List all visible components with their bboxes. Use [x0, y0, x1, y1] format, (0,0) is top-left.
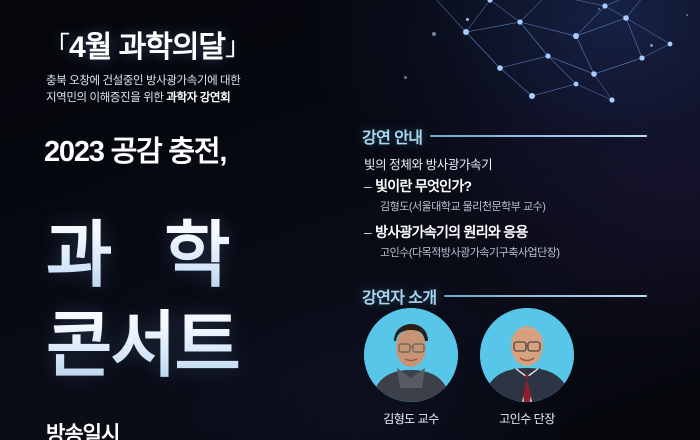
avatar: [480, 308, 574, 402]
poster-canvas: 「4월 과학의달」 충북 오창에 건설중인 방사광가속기에 대한 지역민의 이해…: [0, 0, 700, 440]
subtitle-line-2-plain: 지역민의 이해증진을 위한: [46, 92, 166, 104]
bullet-dash-icon: –: [364, 178, 371, 194]
speaker-card: 고인수 단장: [480, 308, 574, 427]
speaker-portrait-ko: [480, 308, 574, 402]
subtitle-line-1: 충북 오창에 건설중인 방사광가속기에 대한: [46, 75, 240, 87]
speaker-name: 고인수 단장: [480, 410, 574, 427]
poster-title-word-3: 콘서트: [46, 286, 239, 391]
lecture-item-title: 방사광가속기의 원리와 응용: [375, 224, 528, 240]
lecture-info-heading: 강연 안내: [362, 124, 647, 148]
poster-title-word-1: 과: [46, 216, 110, 296]
speakers-heading: 강연자 소개: [362, 284, 647, 308]
lecture-item: –방사광가속기의 원리와 응용 고인수(다목적방사광가속기구축사업단장): [364, 222, 694, 260]
poster-left-column: 「4월 과학의달」 충북 오창에 건설중인 방사광가속기에 대한 지역민의 이해…: [0, 0, 350, 440]
bullet-dash-icon: –: [364, 224, 371, 240]
kicker-text: 4월 과학의달: [69, 31, 225, 64]
speakers-title: 강연자 소개: [362, 284, 436, 308]
poster-title-line-1: 2023 공감 충전,: [44, 128, 226, 170]
broadcast-label: 방송일시: [46, 418, 119, 440]
speaker-name: 김형도 교수: [364, 410, 458, 427]
poster-right-column: 강연 안내 빛의 정체와 방사광가속기 –빛이란 무엇인가? 김형도(서울대학교…: [350, 0, 700, 440]
lecture-info-divider: [430, 135, 647, 137]
close-bracket-glyph: 」: [225, 31, 250, 61]
lecture-topic: 빛의 정체와 방사광가속기: [364, 154, 492, 173]
poster-title-word-2: 학: [164, 216, 228, 296]
speaker-portrait-kim: [364, 308, 458, 402]
lecture-item-speaker: 고인수(다목적방사광가속기구축사업단장): [380, 244, 694, 260]
open-bracket-glyph: 「: [44, 31, 69, 61]
subtitle-line-2-bold: 과학자 강연회: [166, 92, 230, 104]
lecture-item-speaker: 김형도(서울대학교 물리천문학부 교수): [380, 198, 694, 214]
lecture-info-title: 강연 안내: [362, 124, 422, 148]
lecture-item: –빛이란 무엇인가? 김형도(서울대학교 물리천문학부 교수): [364, 176, 694, 214]
speaker-card: 김형도 교수: [364, 308, 458, 427]
speakers-divider: [444, 295, 647, 297]
poster-subtitle: 충북 오창에 건설중인 방사광가속기에 대한 지역민의 이해증진을 위한 과학자…: [46, 73, 336, 107]
lecture-item-head: –방사광가속기의 원리와 응용: [364, 222, 694, 242]
poster-kicker: 「4월 과학의달」: [44, 22, 250, 66]
avatar: [364, 308, 458, 402]
lecture-item-title: 빛이란 무엇인가?: [375, 178, 471, 194]
speakers-list: 김형도 교수: [364, 308, 574, 427]
lecture-item-head: –빛이란 무엇인가?: [364, 176, 694, 196]
